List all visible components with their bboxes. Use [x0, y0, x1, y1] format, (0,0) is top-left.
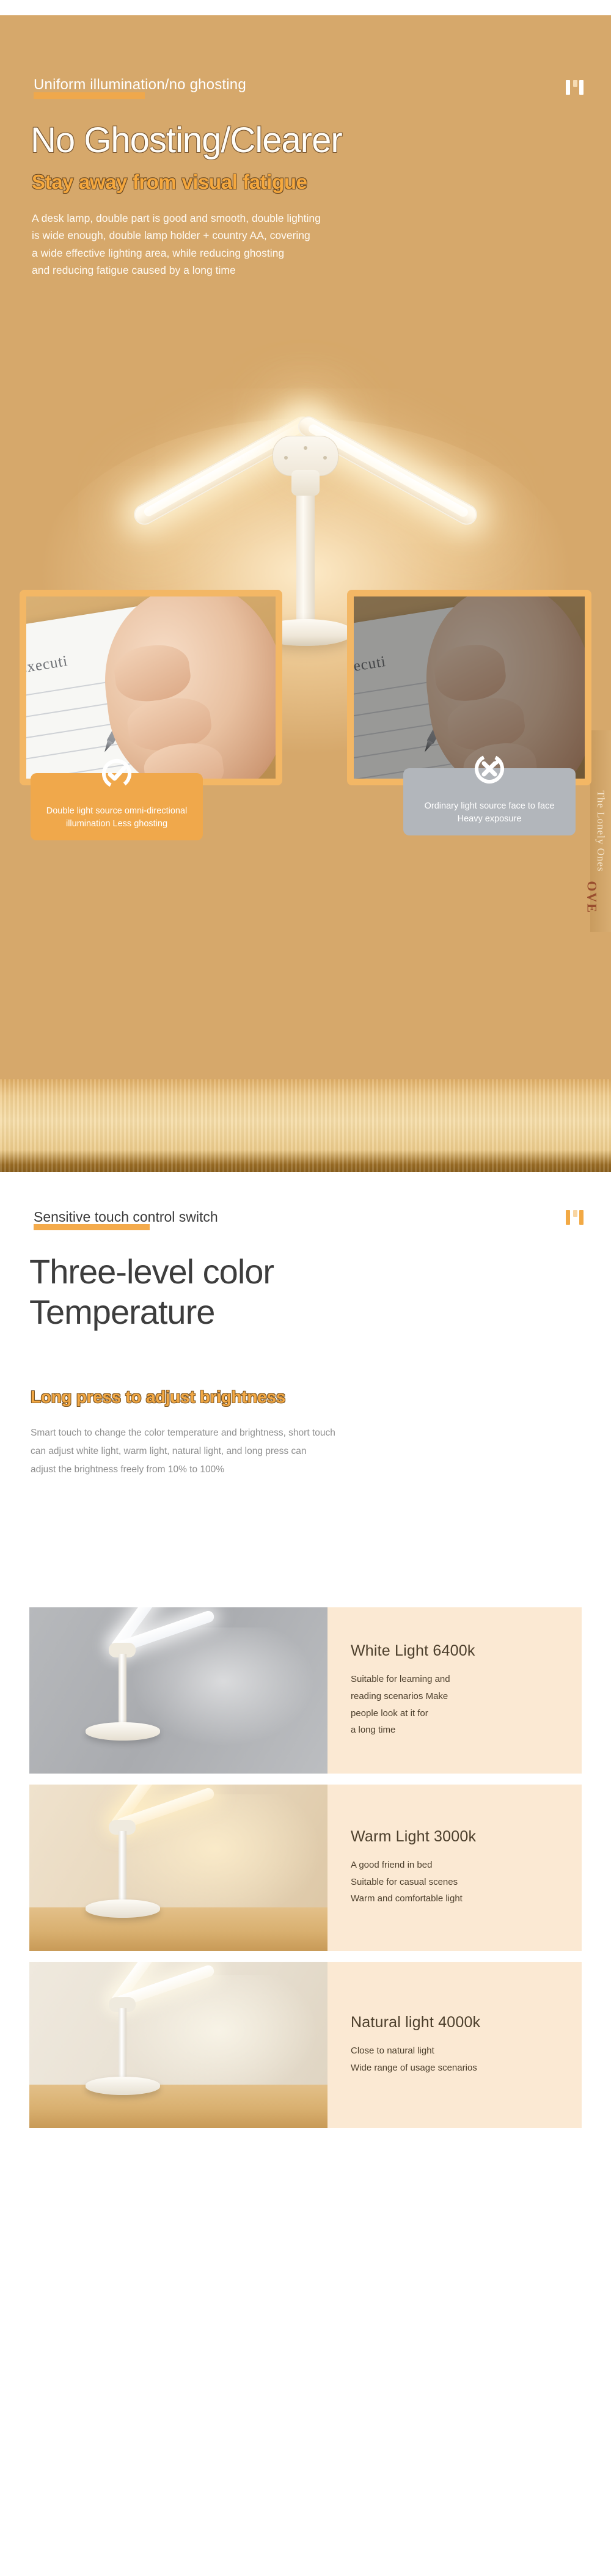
lamp-white-light-photo: [29, 1607, 327, 1774]
mode-card-natural-light[interactable]: Natural light 4000k Close to natural lig…: [29, 1962, 582, 2128]
badge-ordinary-light-source: Ordinary light source face to face Heavy…: [403, 768, 576, 835]
section-two-body-line: can adjust white light, warm light, natu…: [31, 1442, 580, 1461]
writing-hand-ordinary-lighting-photo: xecuti: [347, 590, 591, 785]
section-two-title-line-2: Temperature: [29, 1292, 274, 1332]
hero-body-copy: A desk lamp, double part is good and smo…: [32, 210, 472, 279]
section-two-body-line: Smart touch to change the color temperat…: [31, 1424, 580, 1442]
mode-desc-line: Wide range of usage scenarios: [351, 2060, 568, 2077]
section-two-title: Three-level color Temperature: [29, 1252, 274, 1332]
badge-line: Heavy exposure: [412, 813, 567, 826]
lamp-stem: [119, 1831, 126, 1907]
badge-double-light-source: Double light source omni-directional ill…: [31, 773, 203, 840]
mode-desc-line: reading scenarios Make: [351, 1688, 568, 1705]
hero-body-line: and reducing fatigue caused by a long ti…: [32, 262, 472, 279]
hero-section: Uniform illumination/no ghosting No Ghos…: [0, 15, 611, 1172]
hero-body-line: is wide enough, double lamp holder + cou…: [32, 227, 472, 244]
mode-card-description: A good friend in bed Suitable for casual…: [351, 1857, 568, 1907]
mode-desc-line: people look at it for: [351, 1705, 568, 1722]
wooden-desk-surface: [0, 1079, 611, 1172]
section-two-kicker: Long press to adjust brightness: [31, 1387, 285, 1407]
lamp-warm-light-photo: [29, 1785, 327, 1951]
mode-card-title: Natural light 4000k: [351, 2014, 568, 2031]
magazine-label: OVE: [584, 881, 600, 914]
mode-desc-line: a long time: [351, 1722, 568, 1739]
mode-card-description: Suitable for learning and reading scenar…: [351, 1671, 568, 1739]
hero-title: No Ghosting/Clearer: [31, 122, 342, 160]
mode-card-warm-light[interactable]: Warm Light 3000k A good friend in bed Su…: [29, 1785, 582, 1951]
lamp-base: [86, 2077, 160, 2095]
paper-word: xecuti: [347, 653, 387, 677]
cross-circle-icon: [474, 754, 505, 784]
lamp-stem: [119, 2008, 126, 2085]
paper-word: Executi: [20, 653, 70, 678]
badge-line: illumination Less ghosting: [39, 818, 194, 831]
section-two-title-line-1: Three-level color: [29, 1252, 274, 1292]
mode-card-text: Natural light 4000k Close to natural lig…: [327, 1962, 582, 2128]
hero-body-line: a wide effective lighting area, while re…: [32, 244, 472, 262]
mode-card-text: White Light 6400k Suitable for learning …: [327, 1607, 582, 1774]
badge-line: Ordinary light source face to face: [412, 800, 567, 813]
lamp-joint: [291, 470, 320, 496]
book-spine-title: The Lonely Ones: [595, 790, 607, 872]
lamp-natural-light-photo: [29, 1962, 327, 2128]
mode-card-title: White Light 6400k: [351, 1642, 568, 1660]
mode-desc-line: Suitable for learning and: [351, 1671, 568, 1688]
lamp-stem: [119, 1654, 126, 1730]
photo-content: Executi: [26, 596, 276, 779]
section-two-eyebrow-label: Sensitive touch control switch: [34, 1209, 218, 1225]
mode-card-white-light[interactable]: White Light 6400k Suitable for learning …: [29, 1607, 582, 1774]
photo-content: xecuti: [354, 596, 585, 779]
check-circle-icon: [101, 758, 132, 789]
badge-line: Double light source omni-directional: [39, 805, 194, 818]
mode-desc-line: Suitable for casual scenes: [351, 1874, 568, 1891]
writing-hand-good-lighting-photo: Executi: [20, 590, 282, 785]
mode-desc-line: Close to natural light: [351, 2042, 568, 2060]
section-two-body-line: adjust the brightness freely from 10% to…: [31, 1461, 580, 1479]
hero-body-line: A desk lamp, double part is good and smo…: [32, 210, 472, 227]
hero-eyebrow-label: Uniform illumination/no ghosting: [34, 76, 246, 94]
scene-floor: [29, 2085, 327, 2128]
mode-card-description: Close to natural light Wide range of usa…: [351, 2042, 568, 2077]
mode-card-text: Warm Light 3000k A good friend in bed Su…: [327, 1785, 582, 1951]
mode-desc-line: A good friend in bed: [351, 1857, 568, 1874]
lamp-base: [86, 1899, 160, 1918]
color-temperature-section: Sensitive touch control switch Three-lev…: [0, 1172, 611, 2576]
lamp-base: [86, 1722, 160, 1741]
mode-card-title: Warm Light 3000k: [351, 1828, 568, 1846]
hero-subtitle: Stay away from visual fatigue: [32, 171, 307, 193]
mode-desc-line: Warm and comfortable light: [351, 1890, 568, 1907]
scene-floor: [29, 1907, 327, 1951]
quote-mark-icon: [565, 1210, 585, 1226]
lamp-neck: [296, 472, 315, 628]
section-two-body-copy: Smart touch to change the color temperat…: [31, 1424, 580, 1480]
section-two-eyebrow: Sensitive touch control switch: [34, 1209, 218, 1225]
quote-mark-icon: [565, 80, 585, 96]
hero-eyebrow: Uniform illumination/no ghosting: [34, 76, 246, 94]
